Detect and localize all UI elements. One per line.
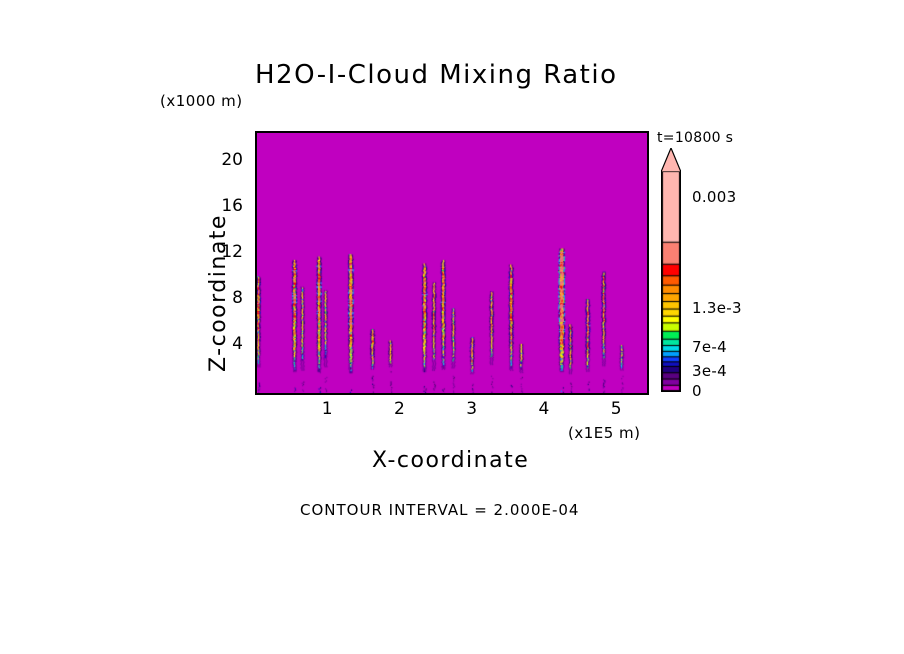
colorbar-tick-label: 0.003 [692,188,736,206]
y-unit-label: (x1000 m) [160,92,243,110]
colorbar-tick-label: 1.3e-3 [692,299,742,317]
x-tick-label: 2 [379,399,419,419]
x-unit-label: (x1E5 m) [568,424,641,442]
x-tick-label: 3 [452,399,492,419]
x-tick-label: 4 [524,399,564,419]
colorbar[interactable] [661,170,681,392]
time-annotation: t=10800 s [657,130,733,146]
colorbar-tick-label: 0 [692,382,702,400]
colorbar-arrow-icon [661,148,681,172]
plot-area[interactable] [255,131,649,395]
x-tick-label: 1 [307,399,347,419]
heatmap-field [257,133,647,393]
figure-canvas: H2O-I-Cloud Mixing Ratio (x1000 m) t=108… [0,0,904,654]
contour-interval-caption: CONTOUR INTERVAL = 2.000E-04 [300,501,579,519]
colorbar-tick-label: 3e-4 [692,362,727,380]
page-title: H2O-I-Cloud Mixing Ratio [255,60,618,90]
colorbar-gradient [661,170,681,392]
colorbar-tick-label: 7e-4 [692,338,727,356]
y-tick-label: 16 [207,196,243,216]
y-tick-label: 4 [207,334,243,354]
y-tick-label: 20 [207,150,243,170]
y-tick-label: 12 [207,242,243,262]
y-tick-label: 8 [207,288,243,308]
x-tick-label: 5 [596,399,636,419]
x-axis-title: X-coordinate [372,448,529,473]
